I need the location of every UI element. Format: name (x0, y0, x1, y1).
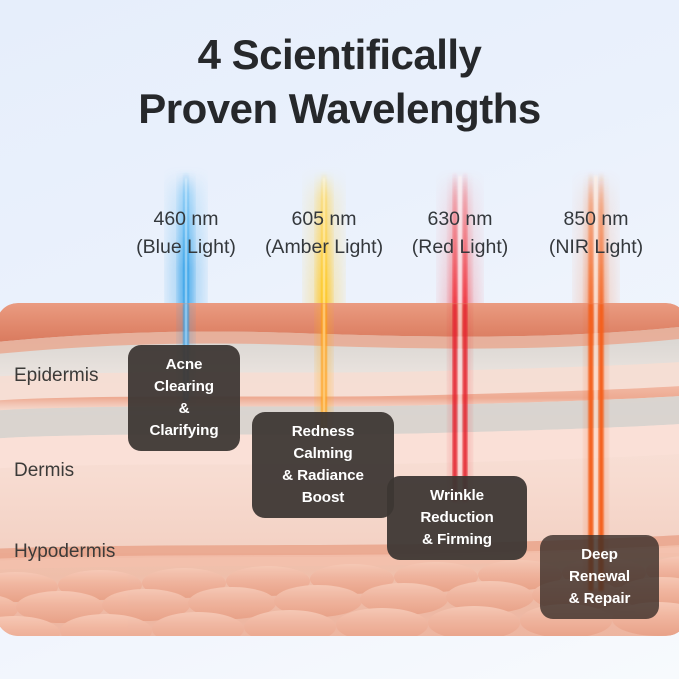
wavelength-name-850nm: (NIR Light) (516, 234, 676, 262)
callout-acne-line-2: & Clarifying (142, 398, 226, 442)
wavelength-label-850nm: 850 nm (NIR Light) (516, 206, 676, 261)
callout-redness-calming[interactable]: Redness Calming & Radiance Boost (252, 412, 394, 518)
skin-layer-label-epidermis: Epidermis (14, 365, 98, 387)
callout-wrinkle-line-2: & Firming (401, 529, 513, 551)
wavelength-value-850nm: 850 nm (516, 206, 676, 234)
callout-deep-renewal[interactable]: Deep Renewal & Repair (540, 535, 659, 619)
skin-layer-label-hypodermis: Hypodermis (14, 541, 115, 563)
callout-deep-line-2: & Repair (554, 588, 645, 610)
callout-acne-clearing[interactable]: Acne Clearing & Clarifying (128, 345, 240, 451)
skin-layer-label-dermis: Dermis (14, 460, 74, 482)
callout-redness-line-2: & Radiance Boost (266, 465, 380, 509)
callout-wrinkle-reduction[interactable]: Wrinkle Reduction & Firming (387, 476, 527, 560)
infographic-canvas: 4 Scientifically Proven Wavelengths (0, 0, 679, 679)
callout-wrinkle-line-1: Wrinkle Reduction (401, 485, 513, 529)
callout-acne-line-1: Acne Clearing (142, 354, 226, 398)
callout-deep-line-1: Deep Renewal (554, 544, 645, 588)
callout-redness-line-1: Redness Calming (266, 421, 380, 465)
